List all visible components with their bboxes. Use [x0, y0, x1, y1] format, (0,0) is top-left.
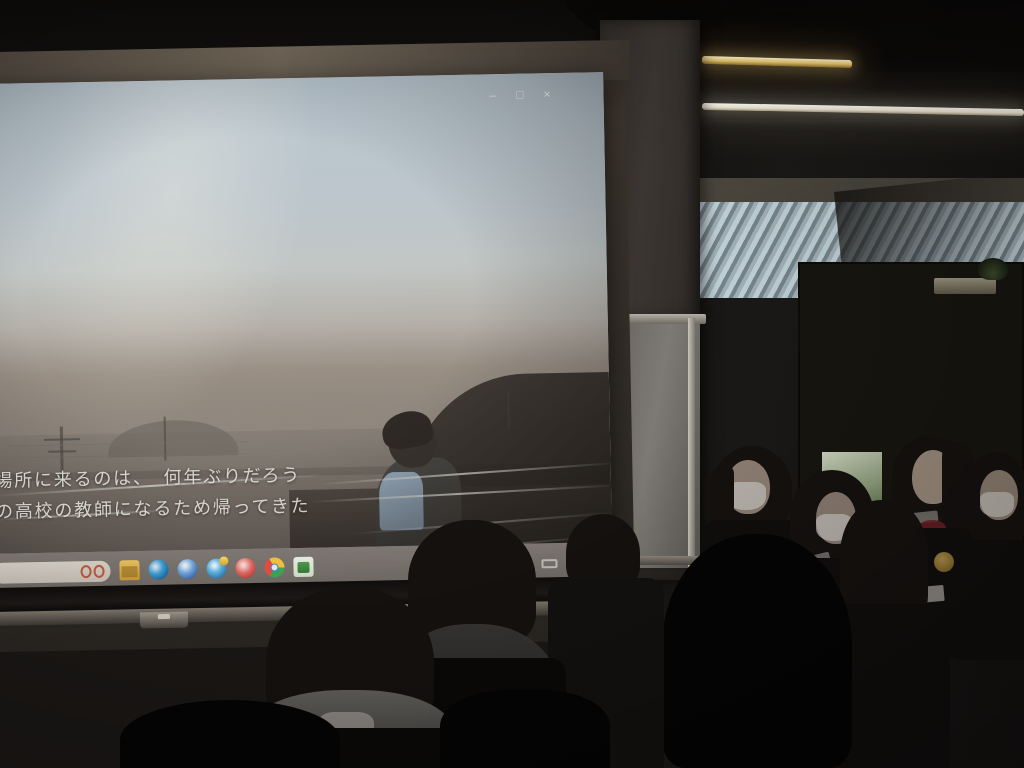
projection-screen: この場所に来るのは、 何年ぶりだろう 玉島の高校の教師になるため帰ってきた – …: [0, 72, 613, 592]
cortana-icon[interactable]: [80, 563, 106, 578]
screenshot-root: この場所に来るのは、 何年ぶりだろう 玉島の高校の教師になるため帰ってきた – …: [0, 0, 1024, 768]
student-torso: [958, 540, 1024, 660]
projected-video: この場所に来るのは、 何年ぶりだろう 玉島の高校の教師になるため帰ってきた – …: [0, 72, 612, 554]
close-icon[interactable]: ×: [543, 87, 550, 101]
microsoft-edge-icon[interactable]: [148, 560, 168, 580]
maximize-icon[interactable]: □: [516, 88, 524, 102]
browser-blue-icon[interactable]: [177, 559, 197, 579]
app-green-icon[interactable]: [293, 557, 313, 577]
minimize-icon[interactable]: –: [489, 88, 496, 102]
projection-surface: この場所に来るのは、 何年ぶりだろう 玉島の高校の教師になるため帰ってきた – …: [0, 72, 613, 592]
search-input[interactable]: [0, 560, 111, 583]
student-6: [662, 534, 852, 768]
taskbar-pinned-apps: [119, 557, 313, 581]
video-subtitles: この場所に来るのは、 何年ぶりだろう 玉島の高校の教師になるため帰ってきた: [0, 459, 376, 529]
whiteboard-rail: [688, 318, 695, 568]
app-red-icon[interactable]: [235, 558, 255, 578]
google-chrome-icon[interactable]: [264, 557, 284, 577]
internet-explorer-icon[interactable]: [206, 558, 226, 578]
foreground-student-4: [440, 690, 610, 768]
school-badge: [934, 552, 954, 572]
door-closer: [934, 278, 996, 294]
file-explorer-icon[interactable]: [119, 560, 139, 580]
ceiling-beam-upper: [700, 72, 1024, 98]
student-4: [964, 452, 1024, 622]
window-controls[interactable]: – □ ×: [489, 87, 550, 102]
student-hair: [840, 500, 928, 620]
face-mask: [980, 492, 1014, 517]
screen-pull-handle[interactable]: [140, 612, 188, 629]
plant: [978, 258, 1008, 280]
student-5: [840, 500, 930, 768]
